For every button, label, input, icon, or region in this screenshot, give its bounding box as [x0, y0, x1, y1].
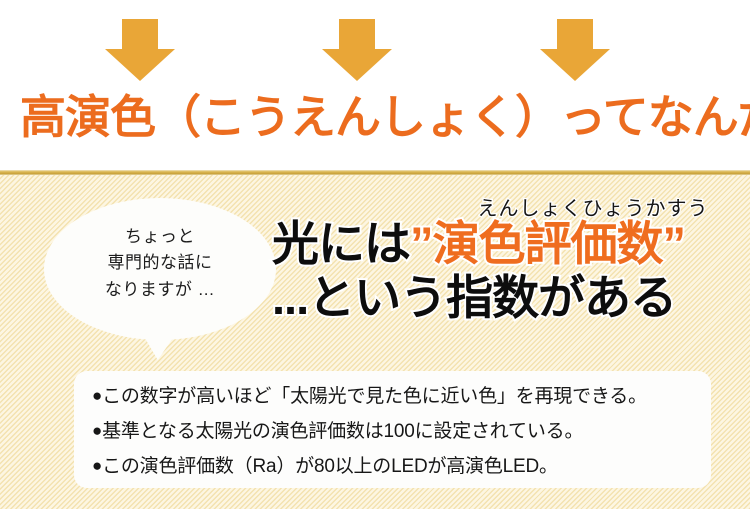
speech-bubble-line-2: 専門的な話に [44, 250, 276, 276]
speech-bubble-line-1: ちょっと [44, 224, 276, 250]
headline-line-1: 光には”演色評価数” [272, 220, 685, 267]
speech-bubble: ちょっと 専門的な話に なりますが … [44, 198, 276, 340]
page-title: 高演色（こうえんしょく）ってなんだ！？ [20, 94, 732, 140]
arrow-shaft [557, 19, 593, 51]
arrow-head [540, 49, 610, 81]
list-item-text: この演色評価数（Ra）が80以上のLEDが高演色LED。 [102, 456, 558, 477]
down-arrow-icon-2 [322, 19, 392, 81]
list-item: ●この数字が高いほど「太陽光で見た色に近い色」を再現できる。 [92, 381, 702, 408]
bullet-marker-icon: ● [92, 421, 102, 441]
infographic-page: 高演色（こうえんしょく）ってなんだ！？ ちょっと 専門的な話に なりますが … … [0, 0, 750, 509]
bullet-marker-icon: ● [92, 386, 102, 406]
headline-block: えんしょくひょうかすう 光には”演色評価数” ...という指数がある [272, 192, 742, 342]
bullet-marker-icon: ● [92, 456, 102, 476]
headline-line-2: ...という指数がある [272, 274, 676, 321]
arrow-head [322, 49, 392, 81]
arrow-shaft [339, 19, 375, 51]
list-item-text: この数字が高いほど「太陽光で見た色に近い色」を再現できる。 [102, 386, 647, 407]
headline-emphasis-part: ”演色評価数” [410, 217, 685, 270]
down-arrow-icon-1 [105, 19, 175, 81]
arrow-head [105, 49, 175, 81]
speech-bubble-line-3: なりますが … [44, 277, 276, 303]
arrow-shaft [122, 19, 158, 51]
list-item: ●この演色評価数（Ra）が80以上のLEDが高演色LED。 [92, 451, 702, 478]
speech-bubble-text: ちょっと 専門的な話に なりますが … [44, 224, 276, 303]
list-item-text: 基準となる太陽光の演色評価数は100に設定されている。 [102, 421, 583, 442]
down-arrow-icon-3 [540, 19, 610, 81]
headline-plain-part: 光には [272, 217, 410, 270]
list-item: ●基準となる太陽光の演色評価数は100に設定されている。 [92, 416, 702, 443]
header-band: 高演色（こうえんしょく）ってなんだ！？ [0, 0, 750, 172]
bullet-list-panel: ●この数字が高いほど「太陽光で見た色に近い色」を再現できる。 ●基準となる太陽光… [74, 371, 711, 488]
